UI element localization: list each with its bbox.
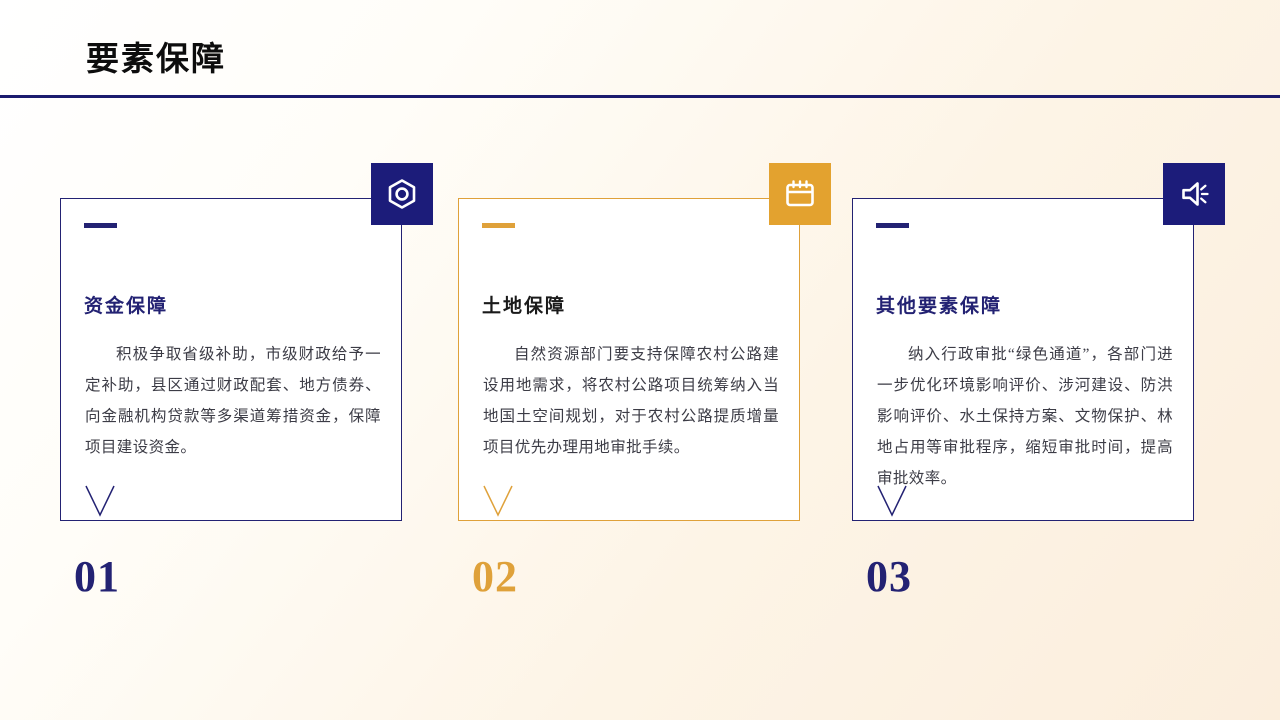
card-title: 其他要素保障 (876, 291, 1002, 318)
card-badge (1163, 163, 1225, 225)
slide-header: 要素保障 (0, 0, 1280, 97)
calendar-icon (783, 177, 817, 211)
megaphone-icon (1177, 177, 1211, 211)
card-panel: 资金保障 积极争取省级补助，市级财政给予一定补助，县区通过财政配套、地方债券、向… (60, 198, 402, 521)
card-title: 土地保障 (482, 291, 566, 318)
card-step-number: 03 (866, 551, 912, 602)
slide-canvas: 要素保障 资金保障 积极争取省级补助，市级财政给予一定补助，县区通过财政配套、地… (0, 0, 1280, 720)
card-body-text: 自然资源部门要支持保障农村公路建设用地需求，将农村公路项目统筹纳入当地国土空间规… (483, 339, 779, 463)
card-badge (769, 163, 831, 225)
header-divider (0, 95, 1280, 98)
card-accent-dash (482, 223, 515, 228)
card-step-number: 02 (472, 551, 518, 602)
page-title: 要素保障 (86, 32, 226, 80)
card-step-number: 01 (74, 551, 120, 602)
card-panel: 其他要素保障 纳入行政审批“绿色通道”，各部门进一步优化环境影响评价、涉河建设、… (852, 198, 1194, 521)
card-accent-dash (876, 223, 909, 228)
card-body-text: 纳入行政审批“绿色通道”，各部门进一步优化环境影响评价、涉河建设、防洪影响评价、… (877, 339, 1173, 494)
card-title: 资金保障 (84, 291, 168, 318)
card-panel: 土地保障 自然资源部门要支持保障农村公路建设用地需求，将农村公路项目统筹纳入当地… (458, 198, 800, 521)
card-body-text: 积极争取省级补助，市级财政给予一定补助，县区通过财政配套、地方债券、向金融机构贷… (85, 339, 381, 463)
card-badge (371, 163, 433, 225)
hex-nut-icon (385, 177, 419, 211)
card-accent-dash (84, 223, 117, 228)
